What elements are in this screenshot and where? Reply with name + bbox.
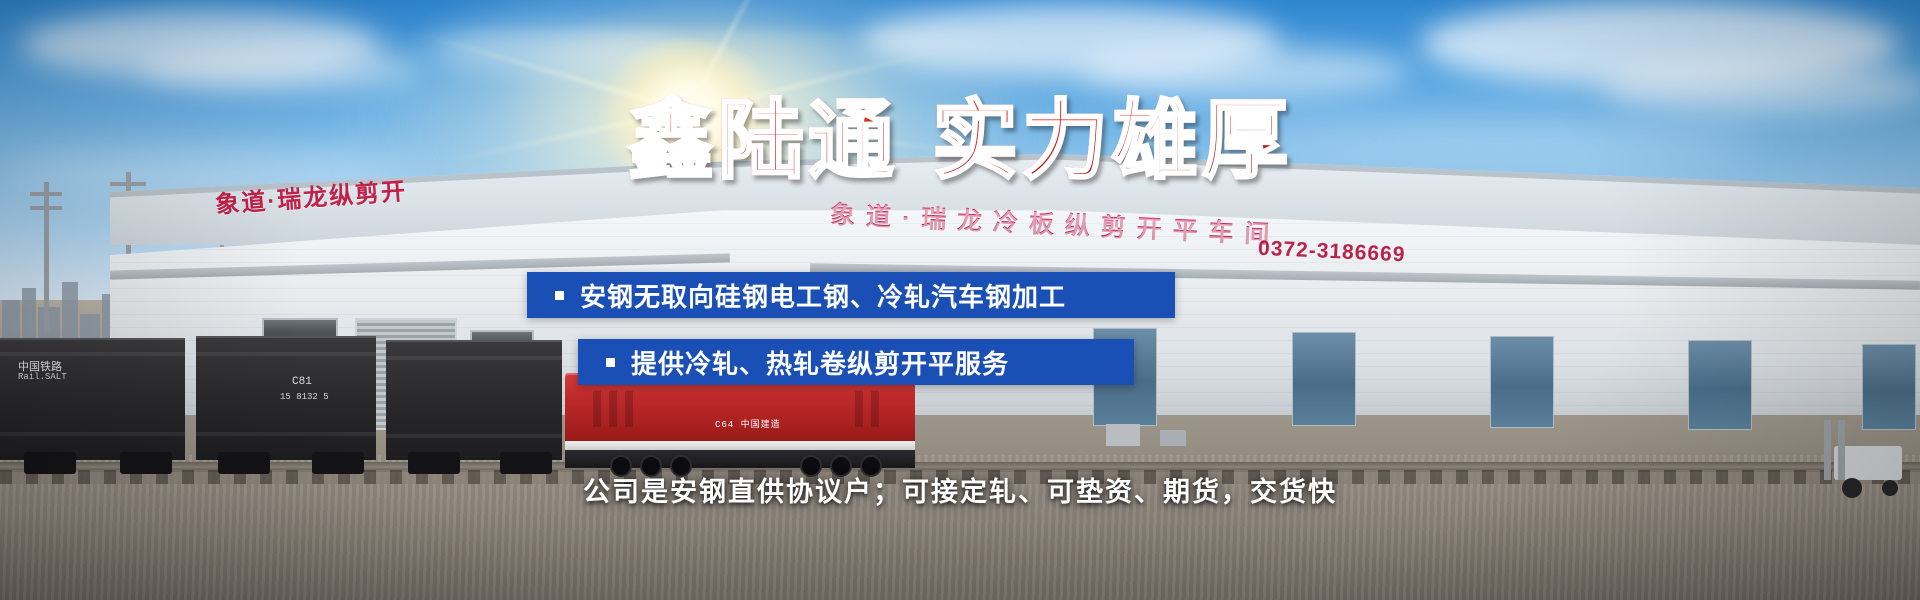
wagon-bogie bbox=[120, 452, 172, 474]
wagon-bogie bbox=[500, 452, 552, 474]
facade-window bbox=[1292, 332, 1356, 426]
wagon-bogie bbox=[408, 452, 460, 474]
forklift bbox=[1820, 420, 1920, 490]
info-box-2-text: 提供冷轧、热轧卷纵剪开平服务 bbox=[631, 344, 1009, 381]
utility-pole bbox=[44, 182, 49, 332]
wagon-bogie bbox=[312, 452, 364, 474]
locomotive-wheel bbox=[640, 455, 662, 477]
info-box-2: 提供冷轧、热轧卷纵剪开平服务 bbox=[578, 339, 1134, 385]
info-box-1: 安钢无取向硅钢电工钢、冷轧汽车钢加工 bbox=[527, 272, 1175, 318]
locomotive-stripe bbox=[565, 441, 915, 450]
wagon-bogie bbox=[218, 452, 270, 474]
locomotive-wheel bbox=[860, 455, 882, 477]
wagon-marking-sub: Rail.SALT bbox=[18, 372, 67, 382]
locomotive-wheel bbox=[830, 455, 852, 477]
hero-banner: 象道·瑞龙纵剪开 象 道 · 瑞 龙 冷 板 纵 剪 开 平 车 间 0372-… bbox=[0, 0, 1920, 600]
freight-wagon bbox=[386, 340, 562, 460]
locomotive-wheel bbox=[610, 455, 632, 477]
locomotive-wheel bbox=[670, 455, 692, 477]
info-box-1-text: 安钢无取向硅钢电工钢、冷轧汽车钢加工 bbox=[580, 277, 1066, 314]
cloud-shape bbox=[1080, 46, 1410, 98]
locomotive-number: C64 中国建造 bbox=[715, 417, 781, 430]
railway-sleepers bbox=[0, 470, 1920, 484]
wagon-marking: C81 bbox=[292, 376, 312, 388]
cloud-shape bbox=[1600, 60, 1920, 116]
pole-crossarm bbox=[30, 206, 62, 210]
bullet-square-icon bbox=[606, 358, 615, 367]
facade-window bbox=[1862, 344, 1916, 430]
wagon-bogie bbox=[24, 452, 76, 474]
facade-window bbox=[1490, 336, 1554, 428]
bullet-square-icon bbox=[555, 291, 564, 300]
facade-window bbox=[1688, 340, 1752, 430]
wagon-marking-sub: 15 8132 5 bbox=[280, 392, 329, 402]
freight-wagon: C81 15 8132 5 bbox=[196, 336, 376, 460]
wall-equipment-box bbox=[1160, 430, 1186, 446]
locomotive-wheel bbox=[800, 455, 822, 477]
wall-equipment-box bbox=[1106, 424, 1140, 446]
pole-crossarm bbox=[30, 192, 62, 196]
freight-wagon: 中国铁路 Rail.SALT bbox=[0, 338, 185, 460]
